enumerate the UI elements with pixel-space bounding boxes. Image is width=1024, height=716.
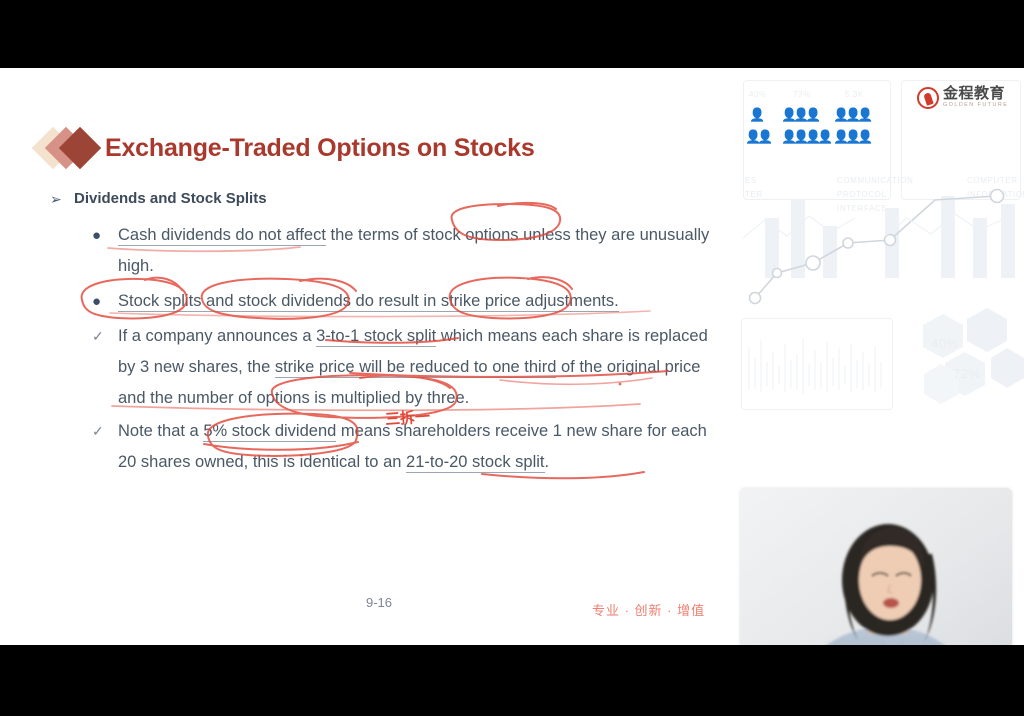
three-to-one-pre: If a company announces a bbox=[118, 327, 316, 345]
note-pre: Note that a bbox=[118, 422, 203, 440]
note-post: . bbox=[545, 453, 550, 471]
deco-waveform bbox=[741, 318, 893, 410]
arrow-bullet-icon: ➢ bbox=[50, 188, 74, 210]
logo-chinese-name: 金程教育 bbox=[943, 86, 1008, 101]
letterbox-top bbox=[0, 0, 1024, 68]
underline-21-to-20-split: 21-to-20 stock split bbox=[406, 453, 544, 473]
underline-cash-dividends: Cash dividends do not affect bbox=[118, 226, 326, 246]
bullet-stock-splits: ● Stock splits and stock dividends do re… bbox=[92, 286, 710, 317]
bullet-level1-dividends: ➢ Dividends and Stock Splits bbox=[50, 188, 710, 210]
page-title: Exchange-Traded Options on Stocks bbox=[105, 134, 535, 163]
video-player-stage: 40% 73% 5.3K 👤 👤 👤 👤 👤 👤 👤 👤 👤 👤 👤 👤 👤 👤… bbox=[0, 0, 1024, 716]
underline-3-to-1-split: 3-to-1 stock split bbox=[316, 327, 436, 347]
diamond-decoration-icon bbox=[38, 126, 100, 170]
handwritten-chinese-annotation: 三拆一 bbox=[384, 405, 430, 429]
decorative-infographic-panel: 40% 73% 5.3K 👤 👤 👤 👤 👤 👤 👤 👤 👤 👤 👤 👤 👤 👤… bbox=[735, 68, 1024, 418]
deco-hexagons bbox=[915, 308, 1024, 418]
page-number: 9-16 bbox=[366, 595, 392, 610]
logo-seal-icon bbox=[917, 87, 939, 109]
deco-label-10: 40% bbox=[931, 336, 959, 351]
brand-logo: 金程教育 GOLDEN FUTURE bbox=[917, 86, 1008, 109]
letterbox-bottom bbox=[0, 645, 1024, 716]
bullet-three-to-one-text: If a company announces a 3-to-1 stock sp… bbox=[118, 321, 710, 414]
dot-bullet-icon: ● bbox=[92, 220, 118, 251]
check-bullet-icon: ✓ bbox=[92, 416, 118, 447]
slide-title-row: Exchange-Traded Options on Stocks bbox=[38, 126, 535, 170]
presenter-image bbox=[740, 488, 1012, 645]
bullet-level1-text: Dividends and Stock Splits bbox=[74, 188, 267, 210]
presenter-video-feed[interactable] bbox=[740, 488, 1012, 645]
dot-bullet-icon: ● bbox=[92, 286, 118, 317]
bullet-stock-splits-text: Stock splits and stock dividends do resu… bbox=[118, 286, 710, 317]
underline-strike-price-reduced: strike price will be reduced to one thir… bbox=[275, 358, 557, 378]
underline-5pct-stock-dividend: 5% stock dividend bbox=[203, 422, 336, 442]
slide-body: ➢ Dividends and Stock Splits ● Cash divi… bbox=[50, 188, 710, 480]
logo-english-name: GOLDEN FUTURE bbox=[943, 101, 1008, 109]
bullet-cash-dividends: ● Cash dividends do not affect the terms… bbox=[92, 220, 710, 282]
presentation-slide: 40% 73% 5.3K 👤 👤 👤 👤 👤 👤 👤 👤 👤 👤 👤 👤 👤 👤… bbox=[0, 68, 1024, 645]
bullet-three-to-one: ✓ If a company announces a 3-to-1 stock … bbox=[92, 321, 710, 414]
bullet-cash-dividends-text: Cash dividends do not affect the terms o… bbox=[118, 220, 710, 282]
check-bullet-icon: ✓ bbox=[92, 321, 118, 352]
logo-wordmark: 金程教育 GOLDEN FUTURE bbox=[943, 86, 1008, 109]
brand-tagline: 专业 · 创新 · 增值 bbox=[592, 600, 705, 619]
deco-label-11: 72% bbox=[953, 366, 981, 381]
underline-stock-splits: Stock splits and stock dividends do resu… bbox=[118, 292, 619, 312]
